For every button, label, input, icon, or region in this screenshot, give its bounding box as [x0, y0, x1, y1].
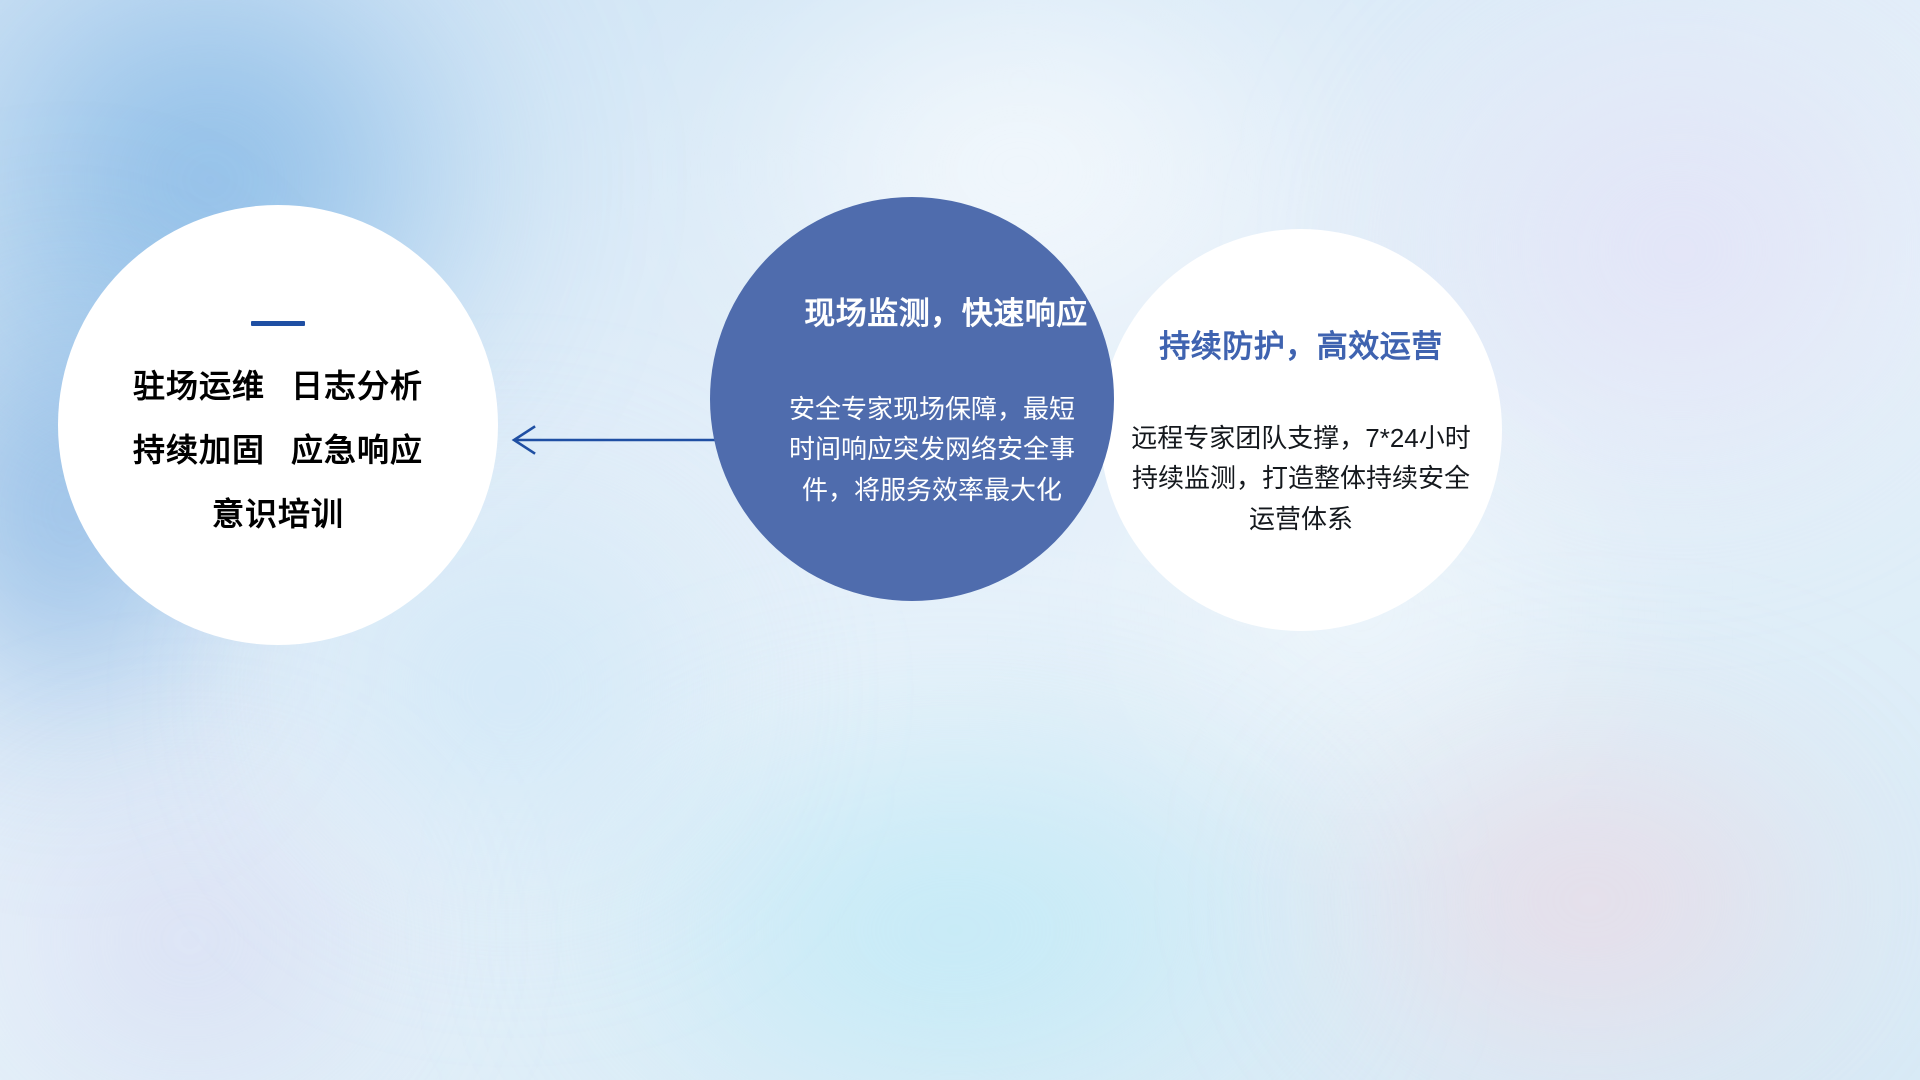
keyword-label: 日志分析 — [291, 368, 423, 404]
keyword-row: 意识培训 — [212, 498, 344, 530]
keyword-row: 持续加固应急响应 — [133, 434, 423, 466]
keyword-label: 应急响应 — [291, 432, 423, 468]
keyword-label: 驻场运维 — [133, 368, 265, 404]
keyword-row: 驻场运维日志分析 — [133, 370, 423, 402]
middle-circle-title: 现场监测，快速响应 — [804, 288, 1088, 333]
middle-circle-body: 安全专家现场保障，最短时间响应突发网络安全事件，将服务效率最大化 — [782, 389, 1082, 510]
middle-info-circle[interactable]: 现场监测，快速响应 安全专家现场保障，最短时间响应突发网络安全事件，将服务效率最… — [710, 197, 1114, 601]
keyword-label: 持续加固 — [133, 432, 265, 468]
keyword-label: 意识培训 — [212, 496, 344, 532]
right-info-circle[interactable]: 持续防护，高效运营 远程专家团队支撑，7*24小时持续监测，打造整体持续安全运营… — [1100, 229, 1502, 631]
slide-canvas: 驻场运维日志分析 持续加固应急响应 意识培训 持续防护，高效运营 远程专家团队支… — [0, 0, 1920, 1080]
right-circle-title: 持续防护，高效运营 — [1159, 321, 1443, 366]
left-keyword-circle[interactable]: 驻场运维日志分析 持续加固应急响应 意识培训 — [58, 205, 498, 645]
accent-dash-icon — [251, 321, 305, 326]
right-circle-body: 远程专家团队支撑，7*24小时持续监测，打造整体持续安全运营体系 — [1131, 418, 1471, 539]
